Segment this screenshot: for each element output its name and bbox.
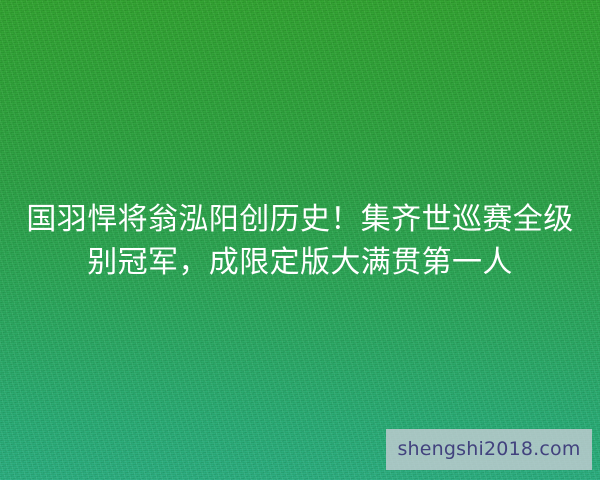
headline-text: 国羽悍将翁泓阳创历史！集齐世巡赛全级 别冠军，成限定版大满贯第一人 bbox=[0, 198, 600, 284]
cover-image-canvas: 国羽悍将翁泓阳创历史！集齐世巡赛全级 别冠军，成限定版大满贯第一人 shengs… bbox=[0, 0, 600, 480]
headline-line-1: 国羽悍将翁泓阳创历史！集齐世巡赛全级 bbox=[22, 198, 578, 241]
watermark-url-text: shengshi2018.com bbox=[397, 440, 580, 459]
watermark-badge: shengshi2018.com bbox=[386, 429, 592, 470]
headline-line-2: 别冠军，成限定版大满贯第一人 bbox=[22, 241, 578, 284]
